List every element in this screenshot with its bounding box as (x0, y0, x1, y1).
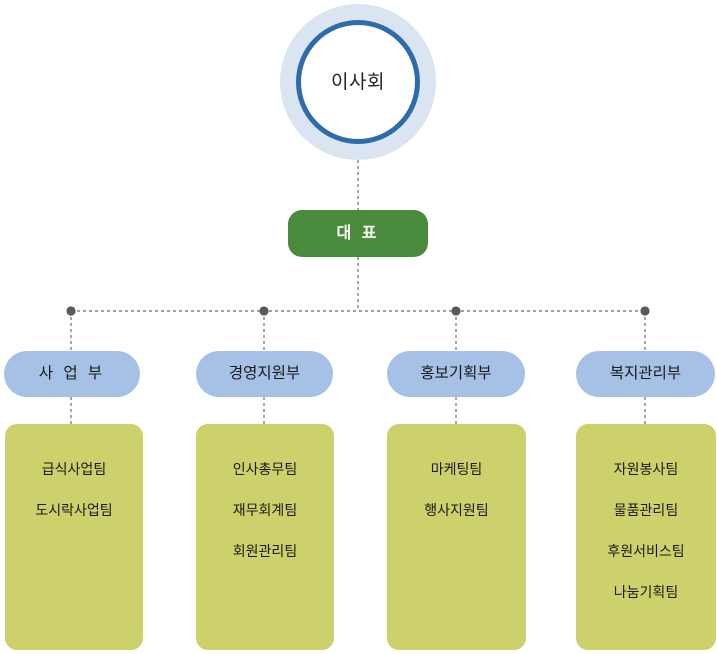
department-label: 사 업 부 (39, 366, 105, 382)
department-label: 홍보기획부 (420, 366, 491, 382)
team-item: 후원서비스팀 (607, 544, 684, 558)
team-item: 회원관리팀 (233, 544, 297, 558)
team-item: 자원봉사팀 (614, 462, 678, 476)
branch-node-dots (66, 306, 649, 315)
department-label: 경영지원부 (229, 366, 300, 382)
department-node-pr-planning[interactable]: 홍보기획부 (387, 351, 525, 397)
team-item: 행사지원팀 (424, 503, 488, 517)
department-node-business[interactable]: 사 업 부 (4, 351, 140, 397)
ceo-label: 대 표 (337, 226, 380, 242)
board-label: 이사회 (331, 73, 385, 92)
branch-dot-1 (259, 306, 268, 315)
team-item: 마케팅팀 (431, 462, 483, 476)
board-ring: 이사회 (296, 20, 420, 144)
board-node[interactable]: 이사회 (280, 4, 436, 160)
department-label: 복지관리부 (610, 366, 681, 382)
ceo-node[interactable]: 대 표 (288, 210, 428, 257)
team-item: 물품관리팀 (614, 503, 678, 517)
branch-dot-2 (451, 306, 460, 315)
department-node-management-support[interactable]: 경영지원부 (196, 351, 333, 397)
team-item: 인사총무팀 (233, 462, 297, 476)
team-box-business[interactable]: 급식사업팀 도시락사업팀 (5, 424, 143, 650)
team-box-management-support[interactable]: 인사총무팀 재무회계팀 회원관리팀 (196, 424, 334, 650)
team-item: 재무회계팀 (233, 503, 297, 517)
team-item: 나눔기획팀 (614, 585, 678, 599)
branch-dot-0 (66, 306, 75, 315)
department-node-welfare-management[interactable]: 복지관리부 (576, 351, 715, 397)
team-item: 급식사업팀 (42, 462, 106, 476)
branch-dot-3 (640, 306, 649, 315)
org-chart-canvas: 이사회 대 표 사 업 부 경영지원부 홍보기획부 복지관리부 급식사업팀 도시… (0, 0, 717, 654)
team-item: 도시락사업팀 (35, 503, 112, 517)
team-box-pr-planning[interactable]: 마케팅팀 행사지원팀 (387, 424, 526, 650)
team-box-welfare-management[interactable]: 자원봉사팀 물품관리팀 후원서비스팀 나눔기획팀 (576, 424, 716, 650)
